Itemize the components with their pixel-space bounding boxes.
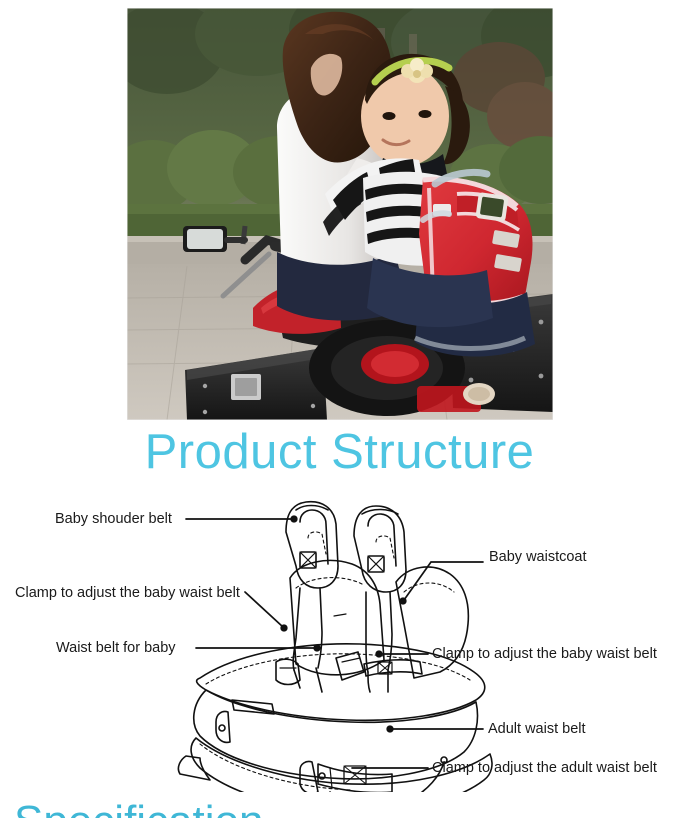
callout-baby-shoulder-belt: Baby shouder belt (55, 512, 172, 527)
callout-waist-belt-for-baby: Waist belt for baby (56, 641, 176, 656)
callout-clamp-adjust-baby-waist-belt-left: Clamp to adjust the baby waist belt (15, 586, 240, 601)
next-section-title: Specification (14, 800, 263, 818)
callout-clamp-adjust-baby-waist-belt-right: Clamp to adjust the baby waist belt (432, 647, 657, 662)
product-detail-page: Product Structure (0, 0, 679, 818)
product-lifestyle-photo (127, 8, 553, 420)
callout-adult-waist-belt: Adult waist belt (488, 722, 586, 737)
callout-baby-waistcoat: Baby waistcoat (489, 550, 587, 565)
page-title: Product Structure (0, 428, 679, 477)
callout-clamp-adjust-adult-waist-belt: Clamp to adjust the adult waist belt (432, 761, 657, 776)
photo-illustration (127, 8, 553, 420)
